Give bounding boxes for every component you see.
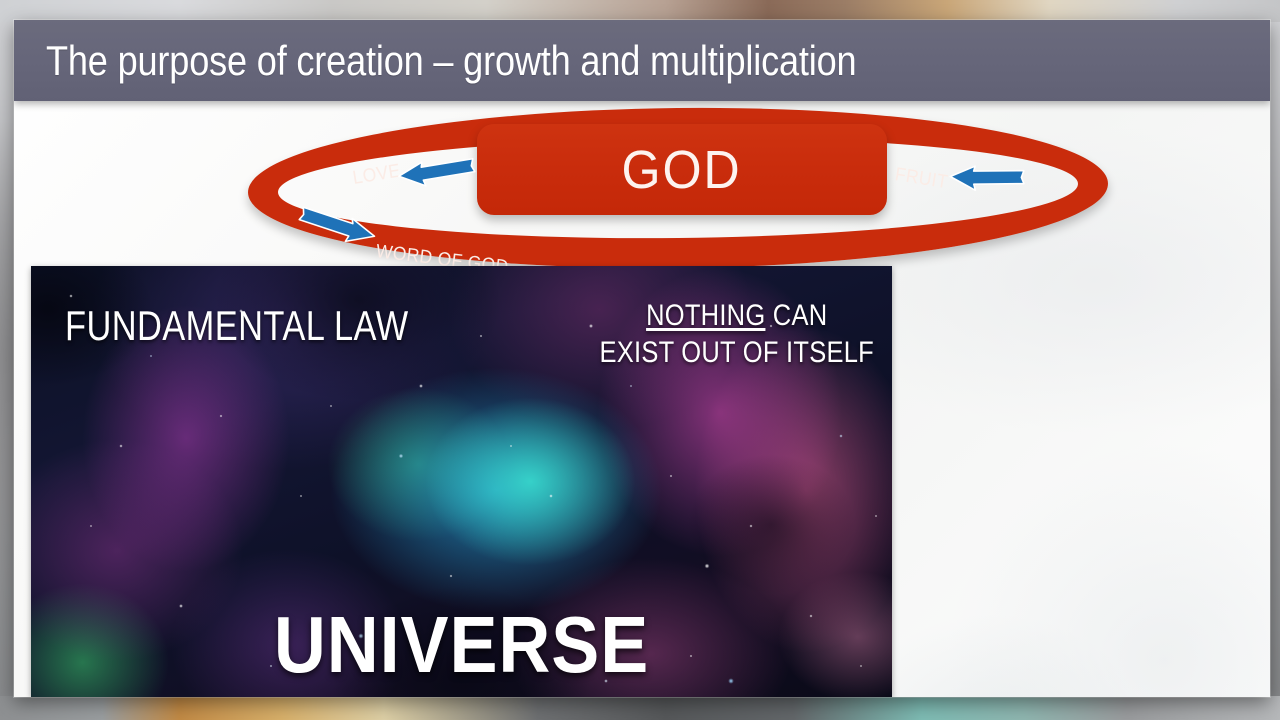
exist-out-of-itself-line: EXIST OUT OF ITSELF (599, 335, 874, 372)
nothing-word: NOTHING (646, 299, 765, 332)
can-word: CAN (765, 299, 827, 332)
god-label: GOD (622, 139, 742, 201)
blurred-background-top-strip (0, 0, 1280, 22)
slide-title-bar: The purpose of creation – growth and mul… (14, 20, 1270, 101)
arrow-left-icon (946, 163, 1026, 199)
screen: The purpose of creation – growth and mul… (0, 0, 1280, 720)
universe-nebula-image: FUNDAMENTAL LAW NOTHING CAN EXIST OUT OF… (31, 266, 892, 697)
fundamental-law-caption: FUNDAMENTAL LAW (65, 302, 409, 350)
page-title: The purpose of creation – growth and mul… (46, 37, 856, 85)
nothing-can-line: NOTHING CAN (599, 298, 874, 335)
god-box[interactable]: GOD (477, 124, 887, 215)
blurred-background-bottom-strip (0, 696, 1280, 720)
presentation-slide: The purpose of creation – growth and mul… (14, 20, 1270, 697)
nothing-can-exist-caption: NOTHING CAN EXIST OUT OF ITSELF (599, 298, 874, 371)
universe-caption: UNIVERSE (74, 599, 849, 691)
